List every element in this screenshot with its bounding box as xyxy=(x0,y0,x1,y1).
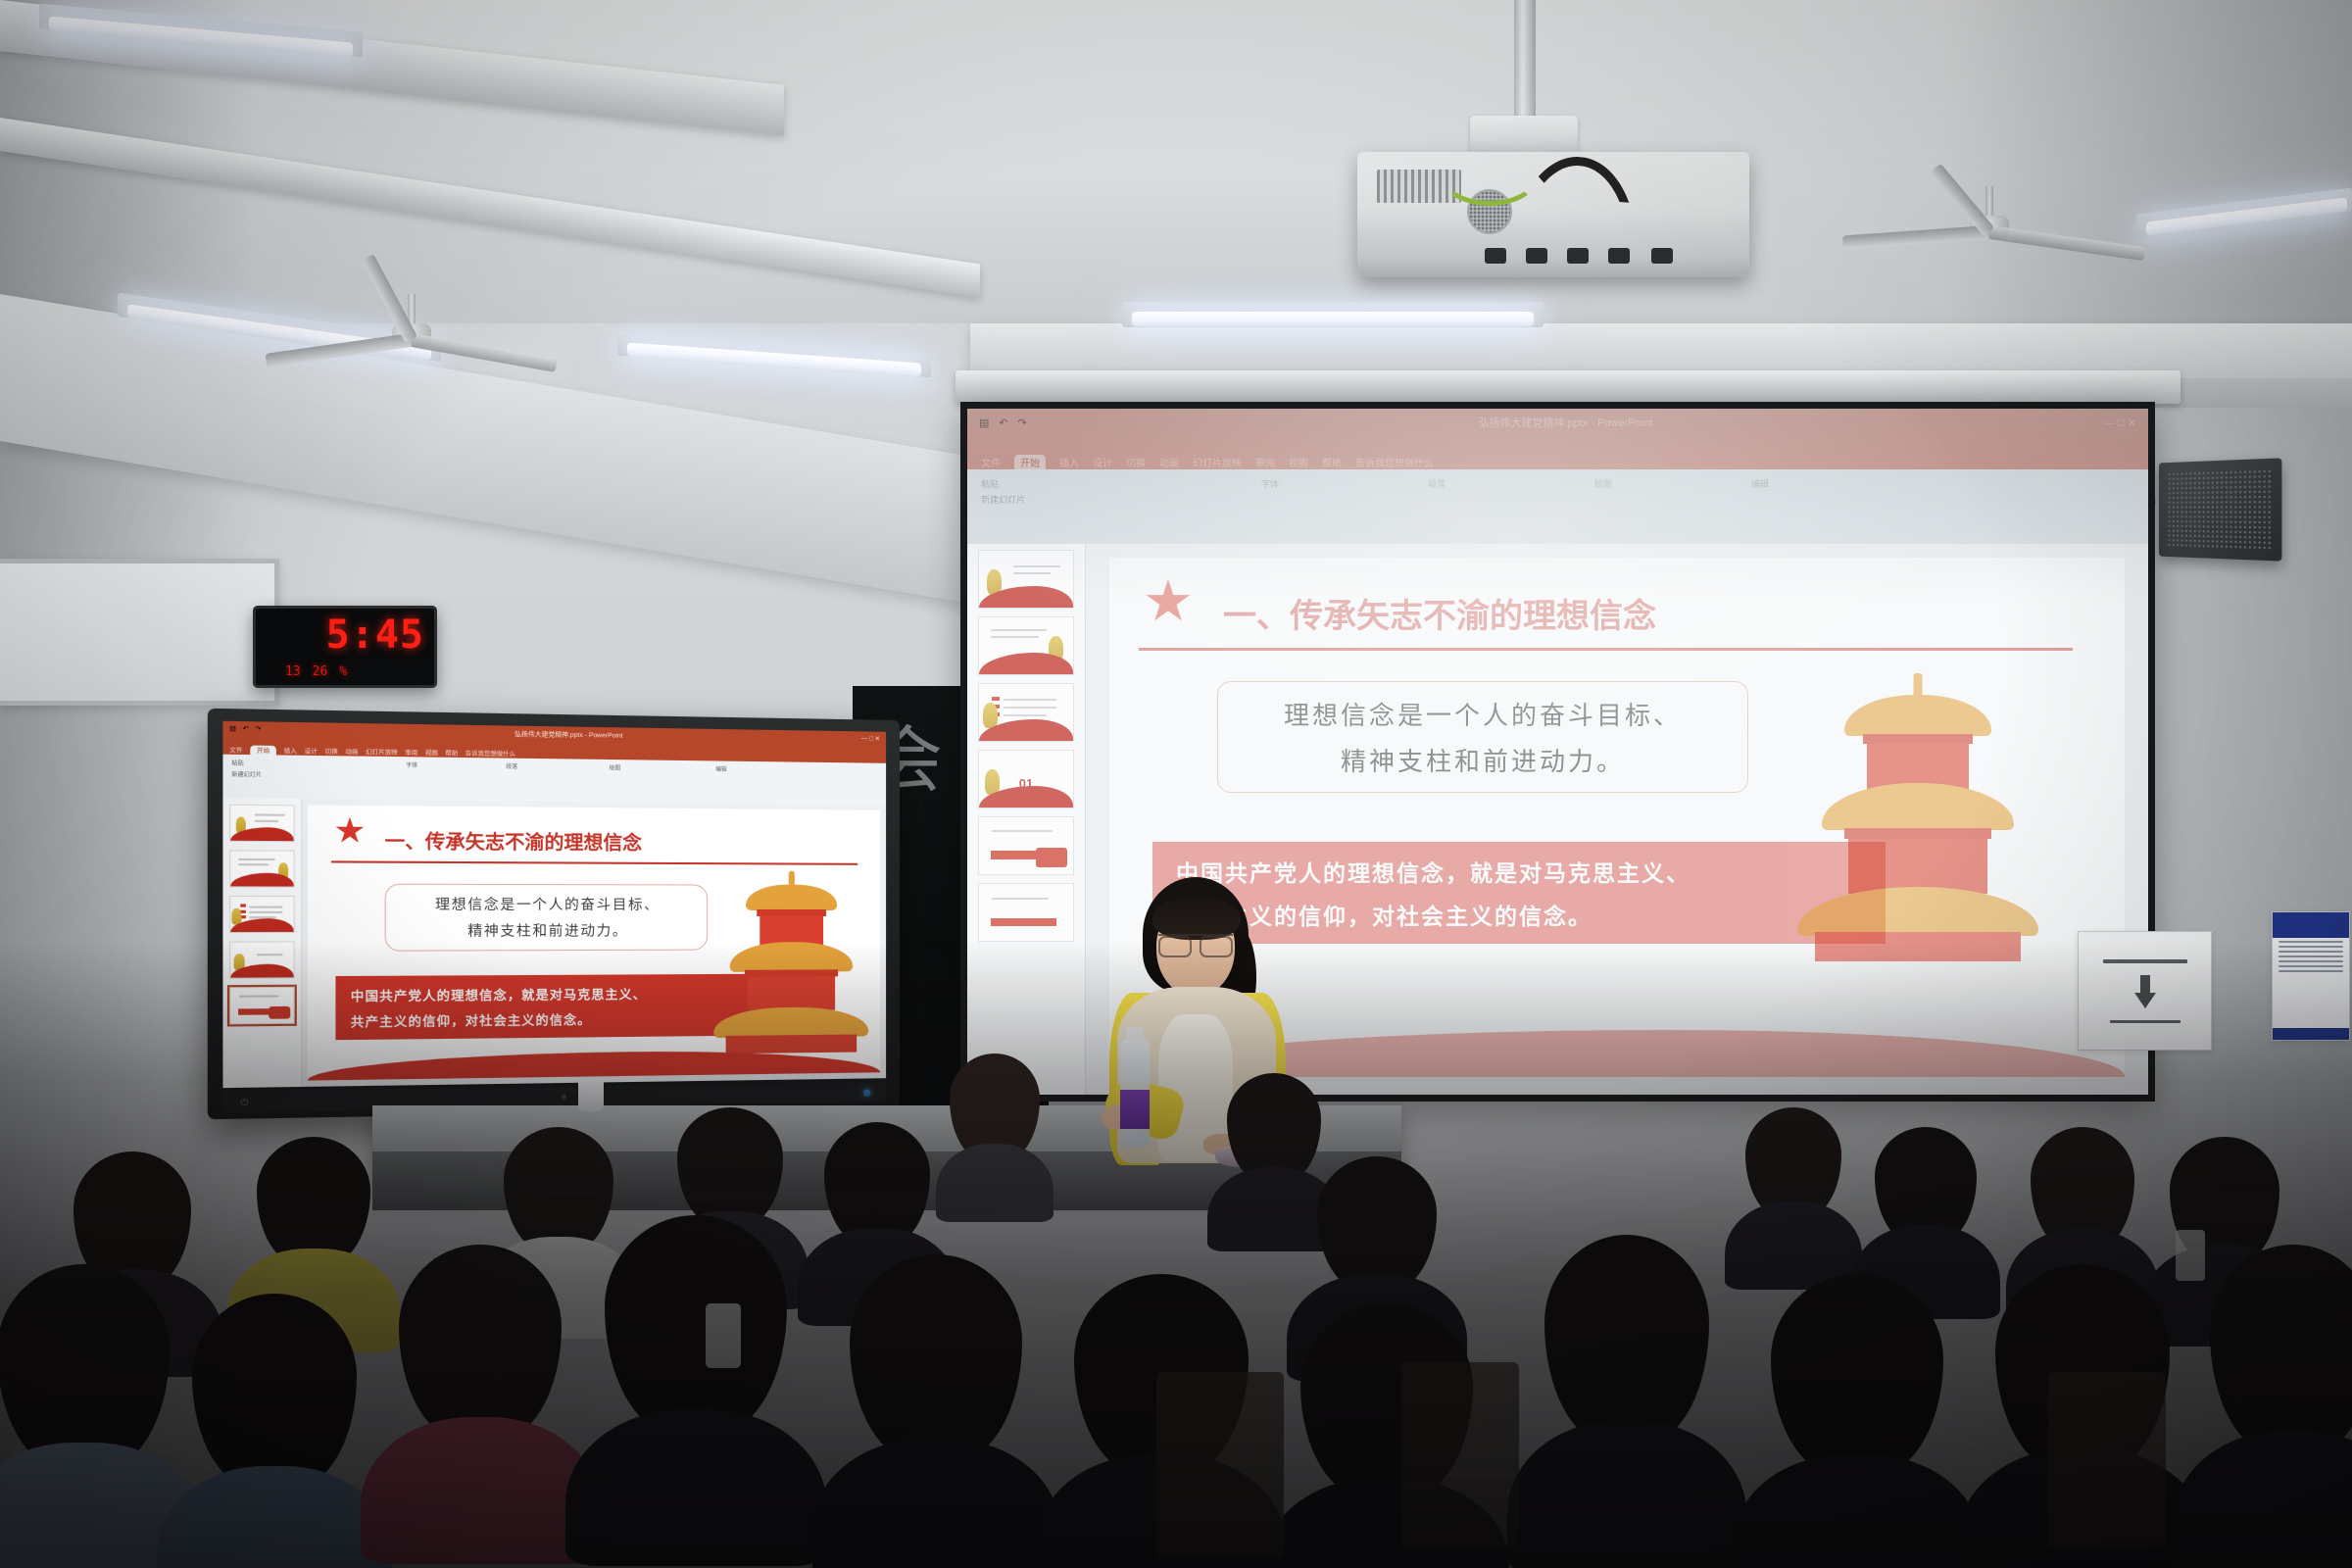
lcd-menu-icon[interactable]: ≡ xyxy=(562,1092,567,1102)
lcd-tab-file[interactable]: 文件 xyxy=(229,745,242,755)
lcd-slide-hill xyxy=(308,1049,880,1080)
projection-screen-housing xyxy=(955,370,2180,404)
ceiling-fan-left xyxy=(294,294,529,372)
lcd-title-underline xyxy=(331,860,857,864)
student xyxy=(588,1215,804,1539)
lcd-active-slide[interactable]: ★ 一、传承矢志不渝的理想信念 理想信念是一个人的奋斗目标、 精神支柱和前进动力… xyxy=(308,805,880,1080)
arrow-down-icon xyxy=(2134,993,2156,1008)
quote-line-1: 理想信念是一个人的奋斗目标、 xyxy=(1284,696,1682,732)
ppt-group-newslide[interactable]: 新建幻灯片 xyxy=(981,493,1025,506)
wall-speaker xyxy=(2159,458,2281,561)
ppt-tab-home[interactable]: 开始 xyxy=(1014,455,1046,469)
student xyxy=(833,1254,1039,1558)
lcd-redo-icon[interactable]: ↷ xyxy=(255,725,261,734)
lcd-tab-help[interactable]: 帮助 xyxy=(445,748,458,758)
ppt-window-buttons[interactable]: — □ ✕ xyxy=(2104,416,2136,429)
led-wall-clock: 5:45 13 26 % xyxy=(253,606,437,688)
eyeglasses-icon xyxy=(1158,934,1233,955)
lcd-group-editing[interactable]: 编辑 xyxy=(715,765,726,773)
lcd-quote-line-1: 理想信念是一个人的奋斗目标、 xyxy=(435,894,660,914)
lcd-undo-icon[interactable]: ↶ xyxy=(243,725,249,734)
water-bottle[interactable] xyxy=(1120,1039,1150,1147)
temple-illustration xyxy=(1795,673,2040,957)
lcd-tab-transitions[interactable]: 切换 xyxy=(325,747,338,757)
ppt-group-paragraph[interactable]: 段落 xyxy=(1428,477,1445,490)
lcd-window-buttons[interactable]: — □ ✕ xyxy=(861,735,880,743)
fan-blade xyxy=(1842,225,1990,249)
ppt-tab-design[interactable]: 设计 xyxy=(1093,455,1112,469)
ppt-tab-slideshow[interactable]: 幻灯片放映 xyxy=(1193,455,1242,469)
list-item[interactable] xyxy=(978,550,1074,609)
sign-sub-line xyxy=(2110,1020,2180,1023)
paper-sheet xyxy=(2176,1230,2205,1281)
red-star-icon: ★ xyxy=(1143,573,1194,630)
lcd-red-line-2: 共产主义的信仰，对社会主义的信念。 xyxy=(351,1007,764,1030)
lcd-ppt-window: ▤ ↶ ↷ 弘扬伟大建党精神.pptx - PowerPoint — □ ✕ 文… xyxy=(222,721,886,1088)
list-item[interactable] xyxy=(229,941,295,978)
lcd-group-paragraph[interactable]: 段落 xyxy=(506,762,517,770)
student xyxy=(2195,1245,2352,1558)
projector-port xyxy=(1651,248,1673,264)
lcd-tab-design[interactable]: 设计 xyxy=(305,746,318,756)
list-item[interactable] xyxy=(978,683,1074,742)
lcd-group-newslide[interactable]: 新建幻灯片 xyxy=(231,770,262,779)
lcd-group-paste[interactable]: 粘贴 xyxy=(231,759,262,767)
ppt-tab-view[interactable]: 视图 xyxy=(1289,455,1308,469)
title-underline xyxy=(1139,648,2073,651)
ceiling-fan-right xyxy=(1862,186,2117,274)
clock-sub-left: 13 xyxy=(285,664,301,679)
list-item[interactable] xyxy=(229,896,295,933)
student xyxy=(1754,1274,1960,1568)
lcd-tab-insert[interactable]: 插入 xyxy=(284,746,297,756)
ppt-redo-icon[interactable]: ↷ xyxy=(1018,416,1027,429)
lcd-group-drawing[interactable]: 绘图 xyxy=(610,763,620,771)
lcd-tab-slideshow[interactable]: 幻灯片放映 xyxy=(366,747,398,757)
student xyxy=(382,1245,578,1539)
classroom-scene: 5:45 13 26 % 会 ▤ ↶ ↷ 弘扬伟大建党精神.ppt xyxy=(0,0,2352,1568)
lcd-tab-review[interactable]: 审阅 xyxy=(405,748,417,758)
lcd-red-line-1: 中国共产党人的理想信念，就是对马克思主义、 xyxy=(351,983,764,1005)
lcd-ppt-workspace: ★ 一、传承矢志不渝的理想信念 理想信念是一个人的奋斗目标、 精神支柱和前进动力… xyxy=(222,798,886,1088)
student xyxy=(941,1053,1049,1210)
list-item[interactable]: 01 xyxy=(978,750,1074,808)
ppt-group-font[interactable]: 字体 xyxy=(1261,477,1279,490)
list-item[interactable] xyxy=(978,616,1074,675)
chair-back xyxy=(1401,1362,1519,1548)
list-item[interactable] xyxy=(978,816,1074,875)
list-item[interactable] xyxy=(229,850,295,887)
paper-cup[interactable] xyxy=(578,1078,604,1111)
ppt-toolbar: 粘贴 新建幻灯片 字体 段落 绘图 编辑 xyxy=(967,469,2148,545)
lcd-group-font[interactable]: 字体 xyxy=(406,760,417,769)
student xyxy=(1735,1107,1852,1274)
exit-direction-sign xyxy=(2078,931,2212,1051)
red-star-icon: ★ xyxy=(333,813,366,849)
ppt-undo-icon[interactable]: ↶ xyxy=(999,416,1007,429)
ppt-tab-help[interactable]: 帮助 xyxy=(1322,455,1342,469)
ppt-group-drawing[interactable]: 绘图 xyxy=(1594,477,1612,490)
thermos-bottle xyxy=(706,1303,741,1368)
lcd-tab-home[interactable]: 开始 xyxy=(250,746,276,756)
clock-sub-mid: 26 xyxy=(313,664,328,679)
chair-back xyxy=(2048,1372,2166,1548)
lcd-save-icon[interactable]: ▤ xyxy=(229,724,236,733)
bottle-cap xyxy=(1126,1027,1144,1041)
lcd-screen[interactable]: ▤ ↶ ↷ 弘扬伟大建党精神.pptx - PowerPoint — □ ✕ 文… xyxy=(222,721,886,1088)
lcd-temple-illustration xyxy=(711,870,870,1052)
ppt-tab-transitions[interactable]: 切换 xyxy=(1126,455,1146,469)
quote-line-2: 精神支柱和前进动力。 xyxy=(1341,742,1625,778)
interactive-lcd-panel[interactable]: ▤ ↶ ↷ 弘扬伟大建党精神.pptx - PowerPoint — □ ✕ 文… xyxy=(208,709,900,1119)
clock-sub-right: % xyxy=(339,664,347,679)
slide-title: 一、传承矢志不渝的理想信念 xyxy=(1223,589,1656,637)
poster-header xyxy=(2273,912,2349,938)
lcd-power-icon[interactable]: ⏻ xyxy=(240,1097,248,1108)
speaker-grill xyxy=(2167,468,2272,551)
wall-poster xyxy=(2272,911,2350,1041)
slide-quote-box: 理想信念是一个人的奋斗目标、 精神支柱和前进动力。 xyxy=(1217,681,1748,793)
lcd-tab-view[interactable]: 视图 xyxy=(425,748,438,758)
desk-items xyxy=(578,1078,604,1111)
ppt-group-paste[interactable]: 粘贴 xyxy=(981,477,1025,490)
clock-secondary-readout: 13 26 % xyxy=(285,664,347,679)
lcd-status-led xyxy=(863,1089,870,1096)
ppt-tab-insert[interactable]: 插入 xyxy=(1059,455,1079,469)
ppt-tab-file[interactable]: 文件 xyxy=(981,455,1001,469)
sign-title-line xyxy=(2103,959,2187,963)
ppt-tab-animations[interactable]: 动画 xyxy=(1159,455,1179,469)
arrow-stem xyxy=(2140,975,2150,993)
list-item[interactable] xyxy=(229,805,295,843)
ppt-ribbon: ▤ ↶ ↷ 弘扬伟大建党精神.pptx - PowerPoint — □ ✕ 文… xyxy=(967,409,2148,469)
lcd-tab-animations[interactable]: 动画 xyxy=(345,747,358,757)
lcd-slide-title: 一、传承矢志不渝的理想信念 xyxy=(385,826,642,856)
poster-footer xyxy=(2273,1028,2349,1040)
ppt-title-bar: 弘扬伟大建党精神.pptx - PowerPoint xyxy=(1037,415,2094,430)
ppt-save-icon[interactable]: ▤ xyxy=(979,416,989,429)
student xyxy=(1529,1235,1725,1548)
ppt-slide-thumbnail-panel[interactable]: 01 xyxy=(967,544,1086,1095)
ppt-tab-review[interactable]: 审阅 xyxy=(1255,455,1275,469)
projector-port xyxy=(1485,248,1506,264)
ppt-tab-tellme[interactable]: 告诉我您想做什么 xyxy=(1355,455,1434,469)
lcd-slide-quote-box: 理想信念是一个人的奋斗目标、 精神支柱和前进动力。 xyxy=(385,884,709,952)
bottle-label xyxy=(1120,1090,1150,1129)
list-item[interactable] xyxy=(978,883,1074,942)
list-item[interactable] xyxy=(229,987,295,1025)
fluorescent-tube-4 xyxy=(1132,312,1534,326)
left-whiteboard xyxy=(0,559,279,706)
fan-rod xyxy=(1985,186,1993,220)
ppt-group-editing[interactable]: 编辑 xyxy=(1751,477,1769,490)
projector-mount-rod xyxy=(1514,0,1536,118)
chair-back xyxy=(1156,1372,1284,1558)
lcd-thumbnail-panel[interactable] xyxy=(222,798,302,1088)
student xyxy=(176,1294,372,1568)
clock-time-display: 5:45 xyxy=(326,612,424,658)
lcd-ppt-toolbar: 粘贴 新建幻灯片 字体 段落 绘图 编辑 xyxy=(222,755,886,806)
student xyxy=(0,1264,186,1568)
lcd-quote-line-2: 精神支柱和前进动力。 xyxy=(467,920,628,941)
